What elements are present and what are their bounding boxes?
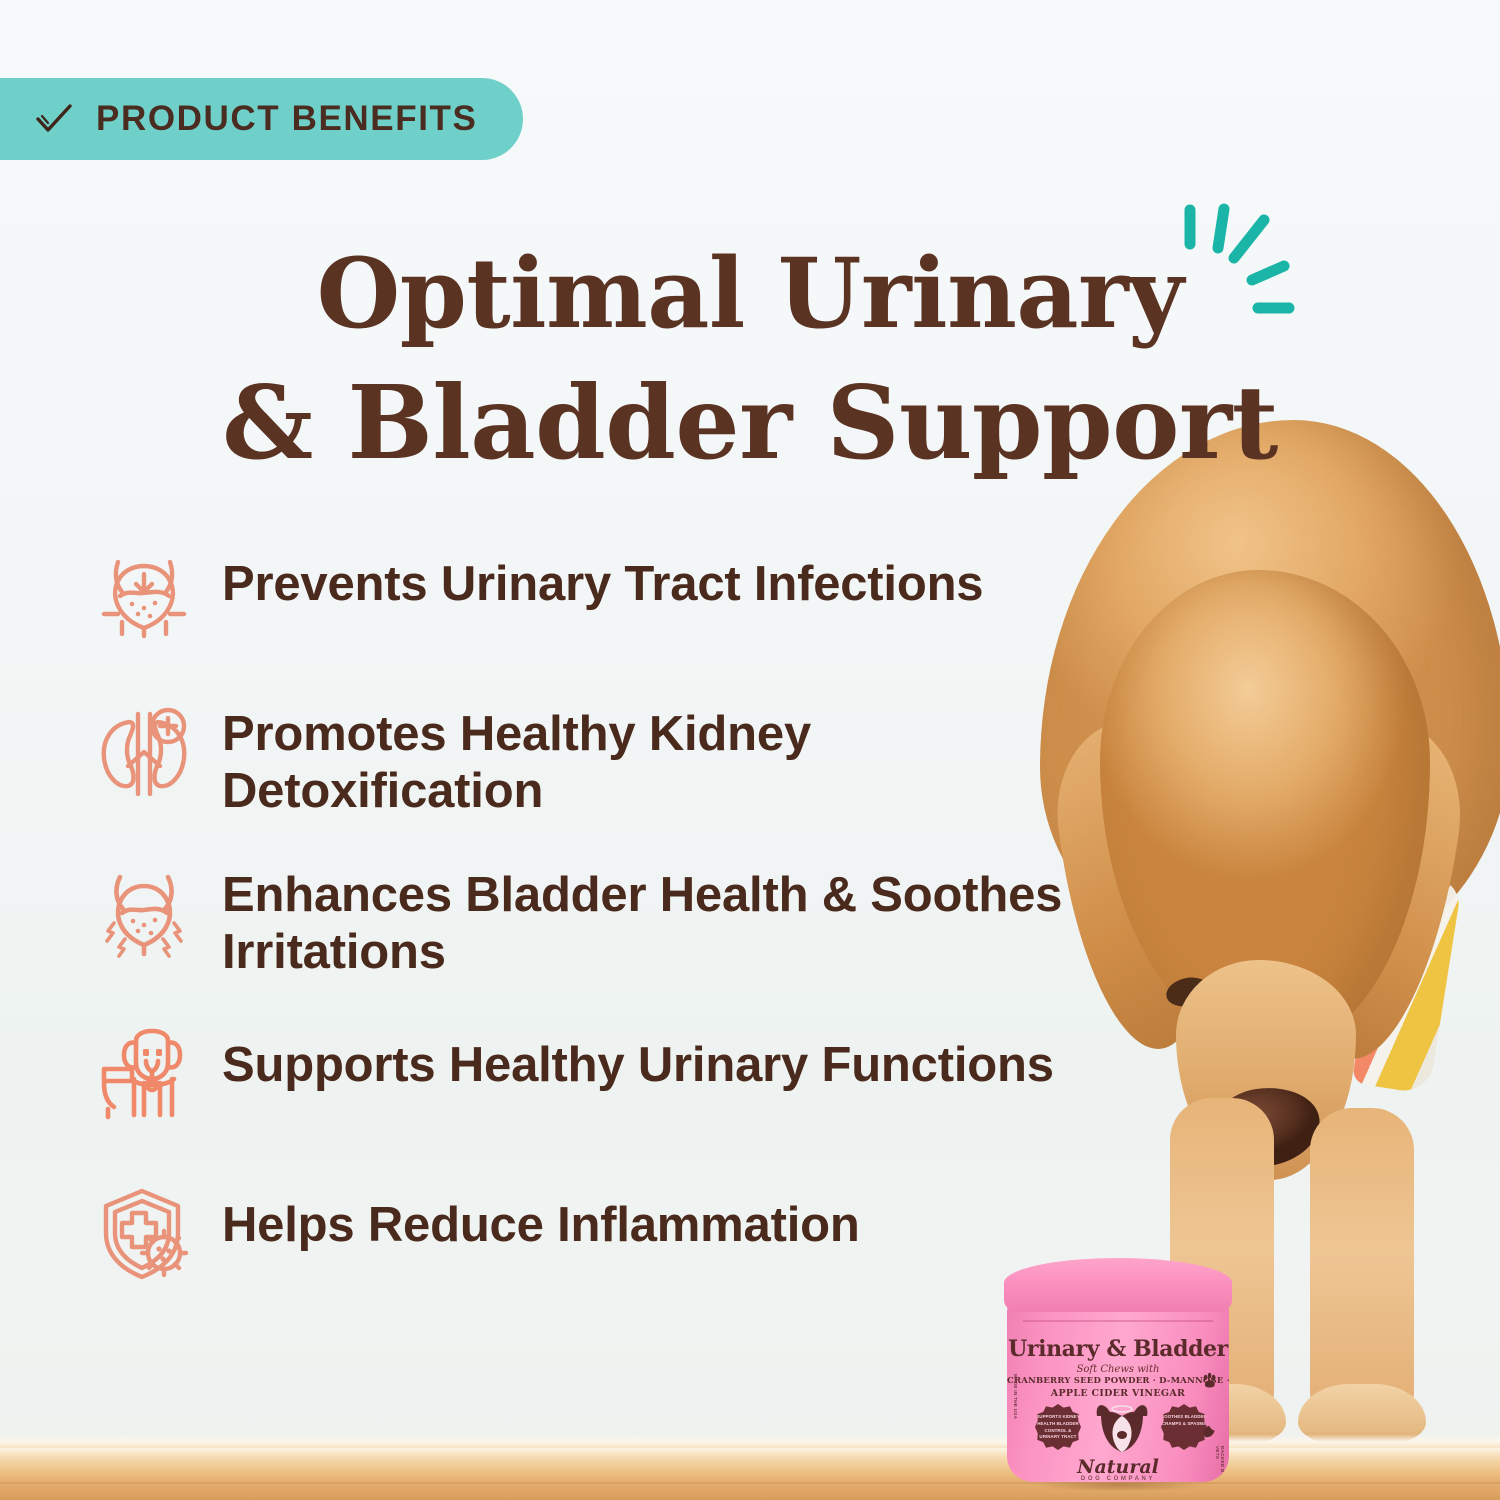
jar-side-text-right: BACKED BY VETS bbox=[1215, 1446, 1225, 1482]
benefit-label: Helps Reduce Inflammation bbox=[222, 1181, 860, 1254]
kidneys-cross-icon bbox=[92, 700, 196, 804]
shield-germ-icon bbox=[92, 1181, 196, 1285]
dog-hydrant-icon bbox=[92, 1021, 196, 1125]
wooden-floor bbox=[0, 1448, 1500, 1500]
benefit-label: Supports Healthy Urinary Functions bbox=[222, 1021, 1054, 1094]
jar-brand-name: Natural bbox=[1007, 1456, 1229, 1478]
jar-ingredients-line-2: APPLE CIDER VINEGAR bbox=[1007, 1388, 1229, 1399]
product-jar: Urinary & Bladder Soft Chews with CRANBE… bbox=[1004, 1258, 1232, 1486]
jar-brand-subtitle: DOG COMPANY bbox=[1007, 1476, 1229, 1482]
benefits-list: Prevents Urinary Tract Infections Promot… bbox=[92, 540, 1142, 1341]
headline-line-2: & Bladder Support bbox=[40, 357, 1460, 488]
dog-leg-right bbox=[1310, 1108, 1414, 1428]
sparkle-rays-icon bbox=[1168, 196, 1318, 341]
benefit-label: Enhances Bladder Health & Soothes Irrita… bbox=[222, 861, 1122, 982]
jar-subtitle: Soft Chews with bbox=[1007, 1364, 1229, 1375]
floor-edge bbox=[0, 1434, 1500, 1448]
leaf-icon bbox=[1201, 1424, 1217, 1440]
benefit-item-uti: Prevents Urinary Tract Infections bbox=[92, 540, 1142, 644]
jar-seal-left: SUPPORTS KIDNEY HEALTH BLADDER CONTROL &… bbox=[1035, 1404, 1081, 1450]
benefit-label: Prevents Urinary Tract Infections bbox=[222, 540, 983, 613]
benefit-item-inflammation: Helps Reduce Inflammation bbox=[92, 1181, 1142, 1285]
benefit-item-kidney: Promotes Healthy Kidney Detoxification bbox=[92, 700, 1142, 821]
benefit-item-bladder-health: Enhances Bladder Health & Soothes Irrita… bbox=[92, 861, 1142, 982]
bladder-arrow-icon bbox=[92, 540, 196, 644]
jar-product-title: Urinary & Bladder bbox=[1007, 1336, 1229, 1362]
floor-seam bbox=[0, 1482, 1500, 1484]
jar-lid-line bbox=[1023, 1320, 1213, 1322]
benefit-label: Promotes Healthy Kidney Detoxification bbox=[222, 700, 1122, 821]
bladder-irritation-icon bbox=[92, 861, 196, 965]
jar-lid bbox=[1004, 1258, 1232, 1312]
dog-logo-icon bbox=[1091, 1400, 1153, 1456]
jar-side-text-left: MADE IN THE USA bbox=[1013, 1374, 1018, 1419]
jar-body: Urinary & Bladder Soft Chews with CRANBE… bbox=[1007, 1296, 1229, 1482]
benefit-item-urinary-function: Supports Healthy Urinary Functions bbox=[92, 1021, 1142, 1125]
product-benefits-badge: PRODUCT BENEFITS bbox=[0, 78, 523, 160]
jar-seal-left-text: SUPPORTS KIDNEY HEALTH BLADDER CONTROL &… bbox=[1035, 1404, 1081, 1441]
badge-label: PRODUCT BENEFITS bbox=[96, 99, 477, 139]
infographic-canvas: PRODUCT BENEFITS Optimal Urinary & Bladd… bbox=[0, 0, 1500, 1500]
check-icon bbox=[34, 99, 74, 139]
paw-icon bbox=[1201, 1372, 1219, 1390]
jar-ingredients-line-1: CRANBERRY SEED POWDER · D-MANNOSE · ECHI… bbox=[1007, 1376, 1229, 1386]
